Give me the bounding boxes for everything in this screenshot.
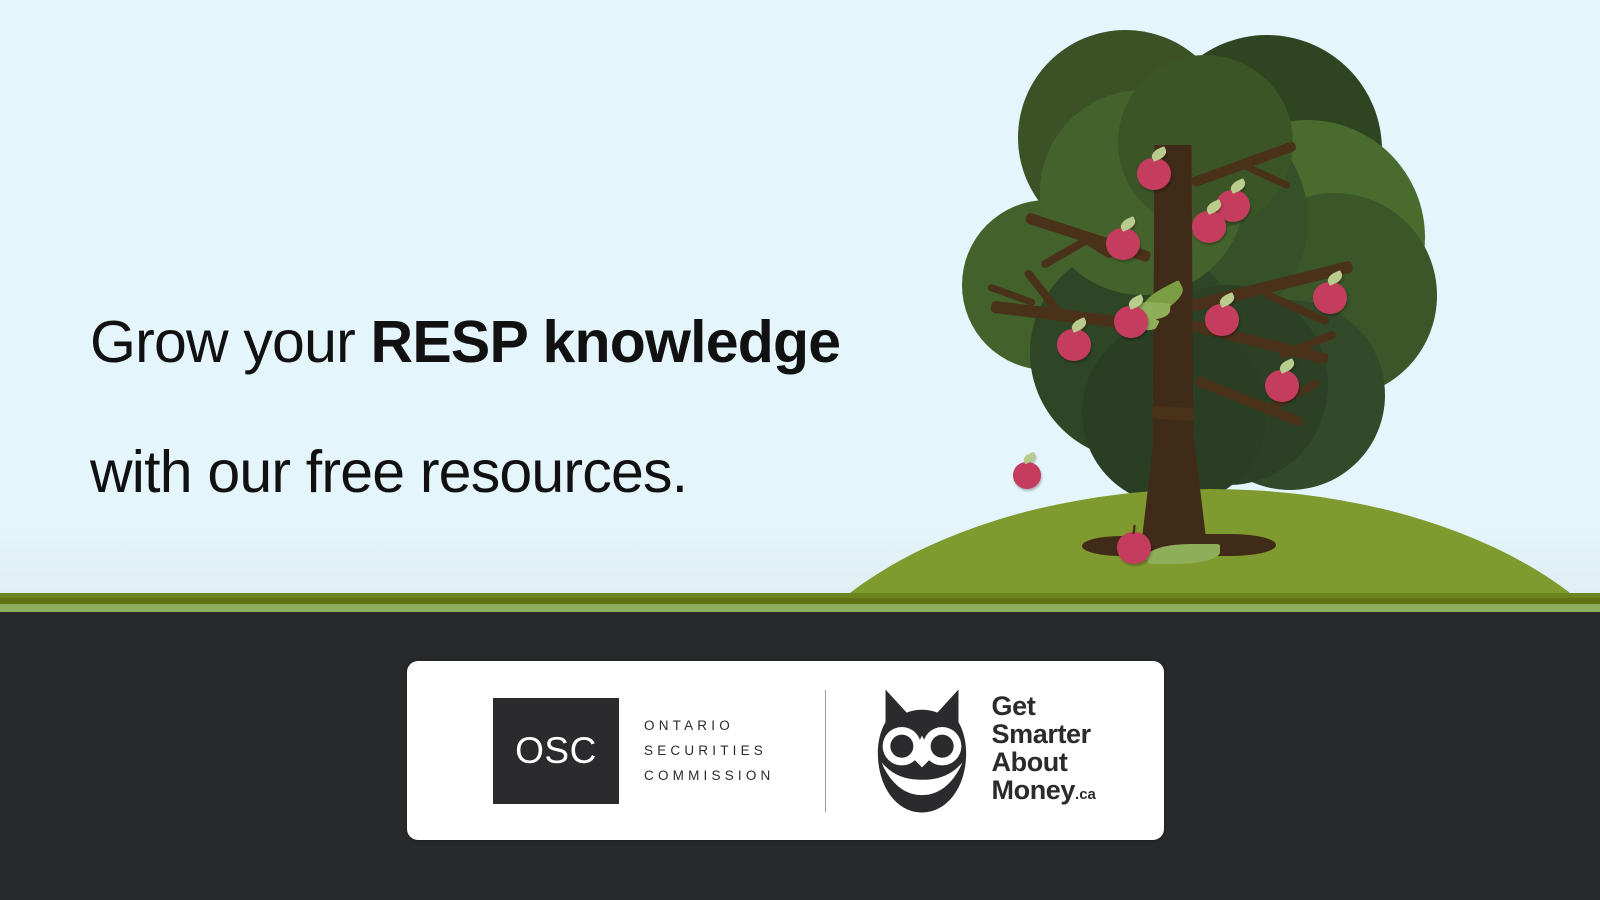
osc-mark: OSC: [493, 698, 619, 804]
osc-word-securities: SECURITIES: [644, 743, 775, 758]
osc-wordmark: ONTARIO SECURITIES COMMISSION: [644, 718, 775, 783]
tree-branch: [1152, 406, 1195, 421]
owl-icon: [874, 687, 970, 815]
gsam-tld: .ca: [1075, 786, 1096, 803]
apple-leaf-icon: [1022, 452, 1037, 465]
banner-root: Grow your RESP knowledge with our free r…: [0, 0, 1600, 900]
gsam-money-text: Money: [992, 775, 1076, 805]
illustration-scene: Grow your RESP knowledge with our free r…: [0, 0, 1600, 612]
gsam-line-smarter: Smarter: [992, 720, 1096, 748]
gsam-line-money: Money.ca: [992, 776, 1096, 809]
apple: [1137, 158, 1171, 190]
apple: [1265, 370, 1299, 402]
ground-strip-light: [0, 604, 1600, 612]
footer-bar: OSC ONTARIO SECURITIES COMMISSION: [0, 612, 1600, 900]
apple: [1106, 228, 1140, 260]
gsam-wordmark: Get Smarter About Money.ca: [992, 692, 1096, 809]
logo-divider: [825, 690, 826, 812]
apple-falling: [1013, 462, 1041, 489]
apple: [1205, 304, 1239, 336]
apple: [1114, 306, 1148, 338]
osc-logo[interactable]: OSC ONTARIO SECURITIES COMMISSION: [493, 698, 775, 804]
osc-mark-text: OSC: [515, 730, 597, 772]
apple: [1192, 211, 1226, 243]
canopy-blob: [1118, 55, 1293, 230]
apple: [1057, 329, 1091, 361]
gsam-line-get: Get: [992, 692, 1096, 720]
apple: [1313, 282, 1347, 314]
osc-word-commission: COMMISSION: [644, 768, 775, 783]
gsam-line-about: About: [992, 748, 1096, 776]
osc-word-ontario: ONTARIO: [644, 718, 775, 733]
logo-card[interactable]: OSC ONTARIO SECURITIES COMMISSION: [407, 661, 1164, 840]
gsam-logo[interactable]: Get Smarter About Money.ca: [874, 687, 1096, 815]
